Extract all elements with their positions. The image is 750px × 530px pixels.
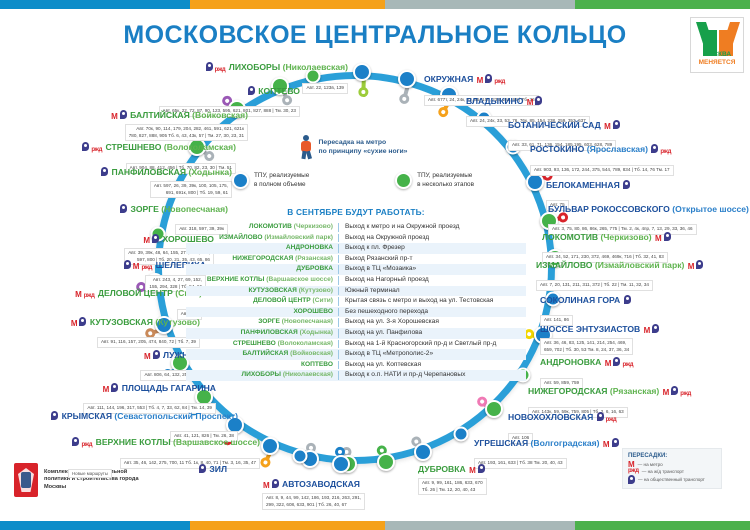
dry-feet-text: Пересадка на метро по принципу «сухие но… [319,138,408,156]
station-name: НОВОХОХЛОВСКАЯ ржд [508,412,617,422]
legend-item-label: — на метро [638,461,663,468]
table-row: ЛОКОМОТИВ (Черкизово)Выход к метро и на … [186,222,526,233]
table-heading: В СЕНТЯБРЕ БУДУТ РАБОТАТЬ: [186,207,526,217]
metro-icon: M [644,325,651,336]
metro-icon: M [527,97,534,108]
stripe-gray [385,0,575,9]
metro-icon: M [663,387,670,398]
legend-item: ржд— на ж/д транспорт [628,468,716,475]
station-label-ugreshskaya[interactable]: УГРЕШСКАЯ (Волгоградская) MАвт. 193, 161… [474,433,620,469]
legend-item: — на общественный транспорт [628,475,716,484]
station-label-verhniekotly[interactable]: ржд ВЕРХНИЕ КОТЛЫ (Варшавское шоссе)Авт.… [71,432,260,469]
metro-icon: M [143,235,150,246]
tpu-stage-text: ТПУ, реализуемые в несколько этапов [417,172,474,189]
table-cell-exit: Выход на 1-й Красногорский пр-д и Светлы… [339,339,496,350]
table-cell-exit: Выход к метро и на Окружной проезд [339,222,459,233]
station-name: БОТАНИЧЕСКИЙ САД M [508,120,621,130]
poster-canvas: МОСКОВСКОЕ ЦЕНТРАЛЬНОЕ КОЛЬЦО МОСКВА МЕН… [0,9,750,521]
station-name: M АВТОЗАВОДСКАЯ [262,479,360,489]
station-routes: Авт. 35, 46, 142, 275, 700, 11 Тб. 1к, 8… [120,458,260,469]
new-routes-note: Новые маршруты [68,469,112,478]
tpu-full-legend-item: ТПУ, реализуемые в полном объеме [232,172,309,189]
station-label-entuziastov[interactable]: ШОССЕ ЭНТУЗИАСТОВ MАвт. 36, 46, 83, 125,… [540,319,660,356]
table-cell-exit: Южный терминал [339,286,400,297]
metro-icon: M [477,75,484,86]
station-node-nizhegorodskaya[interactable] [485,400,503,418]
table-row: КОПТЕВОВыход на ул. Коптевская [186,360,526,371]
station-routes-wrap: Авт. 35, 46, 142, 275, 700, 11 Тб. 1к, 8… [71,451,260,469]
station-routes-wrap: Авт. 903, 93, 136, 172, 244, 375, 544, 7… [530,158,674,176]
table-cell-station: ВЕРХНИЕ КОТЛЫ (Варшавское шоссе) [186,275,338,286]
table-cell-exit: Без пешеходного перехода [339,307,428,318]
page-title: МОСКОВСКОЕ ЦЕНТРАЛЬНОЕ КОЛЬЦО [0,21,750,50]
stripe-blue [0,521,190,530]
station-routes: Авт. 7, 20, 131, 211, 311, 372 | Тб. 22 … [536,280,653,291]
rzd-icon: ржд [660,147,671,158]
bus-icon [652,324,659,333]
table-cell-station: ХОРОШЕВО [186,307,338,318]
table-cell-exit: Выход на Нагорный проезд [339,275,429,286]
bus-icon [664,232,671,241]
top-color-stripe [0,0,750,9]
station-node-avtozavodskaya[interactable] [332,455,350,473]
table-cell-exit: Выход в ТЦ «Мозаика» [339,264,416,275]
station-routes: Авт. 597, 26, 39, 39к, 100, 105, 175,691… [150,181,232,198]
rzd-icon: ржд [606,415,617,426]
metro-icon: M [144,351,151,362]
table-cell-station: НИЖЕГОРОДСКАЯ (Рязанская) [186,254,338,265]
station-routes-wrap: Авт. 9, 99, 161, 186, 633, 670Тб. 26 | Т… [418,477,487,496]
bus-icon [199,464,206,473]
rzd-icon: ржд [215,65,226,76]
metro-icon: M [469,465,476,476]
bus-icon [79,317,86,326]
table-row: ДУБРОВКАВыход в ТЦ «Мозаика» [186,264,526,275]
bus-icon [111,383,118,392]
table-cell-exit: Выход к пл. Фрезер [339,243,405,254]
table-row: НИЖЕГОРОДСКАЯ (Рязанская)Выход Рязанский… [186,254,526,265]
table-cell-station: КОПТЕВО [186,360,338,371]
rzd-icon: ржд [91,145,102,156]
bus-icon [671,386,678,395]
bus-icon [101,167,108,176]
metro-icon: M [605,358,612,369]
station-name: ржд ВЕРХНИЕ КОТЛЫ (Варшавское шоссе) [71,437,260,447]
bus-icon [597,412,604,421]
table-cell-station: АНДРОНОВКА [186,243,338,254]
bus-icon [51,411,58,420]
rzd-icon: ржд [628,468,639,475]
table-row: ЛИХОБОРЫ (Николаевская)Выход к о.п. НАТИ… [186,370,526,381]
dry-feet-line2: по принципу «сухие ноги» [319,148,408,155]
metro-icon: M [603,439,610,450]
station-name: СОКОЛИНАЯ ГОРА [540,295,632,305]
station-name: Mржд ДЕЛОВОЙ ЦЕНТР (Сити) [74,288,202,298]
bottom-color-stripe [0,521,750,530]
stripe-gray [385,521,575,530]
table-row: ВЕРХНИЕ КОТЛЫ (Варшавское шоссе)Выход на… [186,275,526,286]
station-node-zil[interactable] [292,449,307,464]
bus-icon [152,234,159,243]
tpu-full-text: ТПУ, реализуемые в полном объеме [254,172,309,189]
table-row: ДЕЛОВОЙ ЦЕНТР (Сити)Крытая связь с метро… [186,296,526,307]
center-legend: Пересадка на метро по принципу «сухие но… [228,135,478,189]
transfer-knob-icon [259,455,272,468]
metro-icon: M [71,318,78,329]
station-node-okruzhnaya[interactable] [353,63,371,81]
station-label-rostokino[interactable]: РОСТОКИНО (Ярославская) рждАвт. 903, 93,… [530,139,674,176]
bus-icon [72,437,79,446]
green-node-icon [395,172,412,189]
station-name: M БАЛТИЙСКАЯ (Войковская) [110,110,248,120]
metro-icon: M [103,384,110,395]
station-routes: Авт. 903, 93, 136, 172, 244, 375, 544, 7… [530,165,674,176]
table-cell-exit: Выход к о.п. НАТИ и пр-д Черепановых [339,370,465,381]
transfers-legend-items: M— на метроржд— на ж/д транспорт— на общ… [628,461,716,484]
bus-icon [696,260,703,269]
station-name: ИЗМАЙЛОВО (Измайловский парк) M [536,260,704,270]
bus-icon [82,142,89,151]
logo-line1: МОСКВА [703,51,731,58]
bus-icon [651,144,658,153]
station-name: ПАНФИЛОВСКАЯ (Ходынка) [100,167,232,177]
table-cell-exit: Выход Рязанский пр-т [339,254,412,265]
rzd-icon: ржд [84,291,95,302]
metro-icon: M [604,121,611,132]
rzd-icon: ржд [622,360,633,371]
station-name: БЕЛОКАМЕННАЯ [546,180,631,190]
bus-icon [485,74,492,83]
legend-item-label: — на ж/д транспорт [642,468,684,475]
legend-item-label: — на общественный транспорт [638,476,705,483]
bus-icon [124,260,131,269]
station-name: M ПЛОЩАДЬ ГАГАРИНА [102,383,216,393]
station-node-novohohlovskaya[interactable] [453,427,468,442]
bus-icon [613,357,620,366]
bus-icon [272,479,279,488]
table-row: ПАНФИЛОВСКАЯ (Ходынка)Выход на ул. Панфи… [186,328,526,339]
rzd-icon: ржд [81,440,92,451]
station-label-zil[interactable]: ЗИЛ [198,459,227,477]
station-name: НИЖЕГОРОДСКАЯ (Рязанская) Mржд [528,386,692,396]
september-schedule-table: В СЕНТЯБРЕ БУДУТ РАБОТАТЬ: ЛОКОМОТИВ (Че… [186,207,526,381]
station-name: БУЛЬВАР РОКОССОВСКОГО (Открытое шоссе) M [548,204,750,214]
station-routes-wrap: Авт. 7, 20, 131, 211, 311, 372 | Тб. 22 … [536,273,704,291]
moskva-menyaetsya-logo: МОСКВА МЕНЯЕТСЯ [690,17,744,73]
metro-icon: M [688,261,695,272]
legend-item: M— на метро [628,461,716,468]
table-cell-exit: Выход на Окружной проезд [339,233,429,244]
station-name: КРЫМСКАЯ (Севастопольский Проспект) [50,411,238,421]
dry-feet-legend: Пересадка на метро по принципу «сухие но… [228,135,478,159]
coat-of-arms-icon [14,463,38,497]
station-label-kutuzovskaya[interactable]: M КУТУЗОВСКАЯ (Кутузово)Авт. 91, 116, 15… [70,312,200,348]
station-name: КОПТЕВО [247,86,300,96]
tpu-legend: ТПУ, реализуемые в полном объеме ТПУ, ре… [228,172,478,189]
table-row: БАЛТИЙСКАЯ (Войковская)Выход в ТЦ «Метро… [186,349,526,360]
bus-icon [612,438,619,447]
rzd-icon: ржд [141,263,152,274]
station-node-gagarina[interactable] [261,437,279,455]
table-row: ИЗМАЙЛОВО (Измайловский парк)Выход на Ок… [186,233,526,244]
table-cell-station: ЗОРГЕ (Новопесчаная) [186,317,338,328]
table-cell-station: ДЕЛОВОЙ ЦЕНТР (Сити) [186,296,338,307]
logo-line2: МЕНЯЕТСЯ [699,59,736,66]
station-name: ВЛАДЫКИНО M [466,96,543,106]
transfers-legend-heading: ПЕРЕСАДКИ: [628,453,716,459]
table-cell-exit: Выход в ТЦ «Метрополис-2» [339,349,433,360]
table-cell-station: ЛОКОМОТИВ (Черкизово) [186,222,338,233]
station-name: ЗИЛ [198,464,227,474]
metro-icon: M [111,111,118,122]
table-body: ЛОКОМОТИВ (Черкизово)Выход к метро и на … [186,222,526,381]
metro-icon: M [75,289,82,300]
station-label-avtozavodskaya[interactable]: M АВТОЗАВОДСКАЯАвт. 8, 9, 44, 99, 142, 1… [262,474,365,511]
stripe-orange [190,0,385,9]
table-cell-station: СТРЕШНЕВО (Волоколамская) [186,339,338,350]
bus-icon [624,295,631,304]
station-name: ржд СТРЕШНЕВО (Волоколамская) [81,142,236,152]
station-routes: Авт. 22, 123в, 139 [302,83,348,94]
metro-icon: M [628,461,635,468]
table-cell-station: ЛИХОБОРЫ (Николаевская) [186,370,338,381]
station-name: АНДРОНОВКА Mржд [540,357,634,367]
stripe-green [575,521,750,530]
table-row: СТРЕШНЕВО (Волоколамская)Выход на 1-й Кр… [186,339,526,350]
stripe-orange [190,521,385,530]
bus-icon [206,62,213,71]
station-name: M КУТУЗОВСКАЯ (Кутузово) [70,317,200,327]
station-label-izmaylovo[interactable]: ИЗМАЙЛОВО (Измайловский парк) MАвт. 7, 2… [536,255,704,291]
station-name: ДУБРОВКА M [418,464,486,474]
station-routes-wrap: Авт. 8, 9, 44, 99, 142, 186, 193, 216, 2… [262,492,365,511]
table-cell-station: ПАНФИЛОВСКАЯ (Ходынка) [186,328,338,339]
bus-icon [120,204,127,213]
bus-icon [153,350,160,359]
table-cell-exit: Выход на ул. Коптевская [339,360,421,371]
table-cell-station: КУТУЗОВСКАЯ (Кутузово) [186,286,338,297]
station-routes-wrap: Авт. 597, 26, 39, 39к, 100, 105, 175,691… [100,180,232,199]
table-cell-exit: Выход на ул. 3-я Хорошевская [339,317,439,328]
station-routes: Авт. 8, 9, 44, 99, 142, 186, 193, 216, 2… [262,493,365,510]
table-cell-exit: Выход на ул. Панфилова [339,328,422,339]
table-cell-exit: Крытая связь с метро и выход на ул. Тест… [339,296,493,307]
stripe-green [575,0,750,9]
table-cell-station: ДУБРОВКА [186,264,338,275]
station-label-panfilovskaya[interactable]: ПАНФИЛОВСКАЯ (Ходынка)Авт. 597, 26, 39, … [100,162,232,199]
bus-icon [120,110,127,119]
station-node-vladykino[interactable] [398,70,416,88]
bus-icon [628,475,635,484]
station-node-dubrovka[interactable] [377,453,395,471]
table-cell-station: БАЛТИЙСКАЯ (Войковская) [186,349,338,360]
station-name: ОКРУЖНАЯ Mржд [424,74,506,84]
table-cell-station: ИЗМАЙЛОВО (Измайловский парк) [186,233,338,244]
transfers-legend: ПЕРЕСАДКИ: M— на метроржд— на ж/д трансп… [622,448,722,489]
station-name: УГРЕШСКАЯ (Волгоградская) M [474,438,620,448]
station-name: ржд ЛИХОБОРЫ (Николаевская) [205,62,348,72]
bus-icon [623,180,630,189]
bus-icon [613,120,620,129]
rzd-icon: ржд [494,77,505,88]
table-row: ЗОРГЕ (Новопесчаная)Выход на ул. 3-я Хор… [186,317,526,328]
bus-icon [478,464,485,473]
station-label-dubrovka[interactable]: ДУБРОВКА MАвт. 9, 99, 161, 186, 633, 670… [418,459,487,496]
rzd-icon: ржд [680,389,691,400]
station-routes: Авт. 193, 161, 633 | Тб. 38 Тм. 20, 40, … [474,458,567,469]
logo-text: МОСКВА МЕНЯЕТСЯ [691,51,743,67]
table-row: АНДРОНОВКАВыход к пл. Фрезер [186,243,526,254]
metro-icon: M [263,480,270,491]
station-routes: Авт. 9, 99, 161, 186, 633, 670Тб. 26 | Т… [418,478,487,495]
table-row: КУТУЗОВСКАЯ (Кутузово)Южный терминал [186,286,526,297]
station-name: ШОССЕ ЭНТУЗИАСТОВ M [540,324,660,334]
metro-icon: M [655,233,662,244]
bus-icon [535,96,542,105]
blue-node-icon [232,172,249,189]
stripe-blue [0,0,190,9]
table-row: ХОРОШЕВОБез пешеходного перехода [186,307,526,318]
bus-icon [248,86,255,95]
pedestrian-icon [299,135,313,159]
station-name: РОСТОКИНО (Ярославская) ржд [530,144,672,154]
station-name: ЛОКОМОТИВ (Черкизово) M [542,232,672,242]
tpu-stage-legend-item: ТПУ, реализуемые в несколько этапов [395,172,474,189]
metro-icon: M [133,261,140,272]
dry-feet-line1: Пересадка на метро [319,139,387,146]
station-routes-wrap: Авт. 193, 161, 633 | Тб. 38 Тм. 20, 40, … [474,451,620,469]
